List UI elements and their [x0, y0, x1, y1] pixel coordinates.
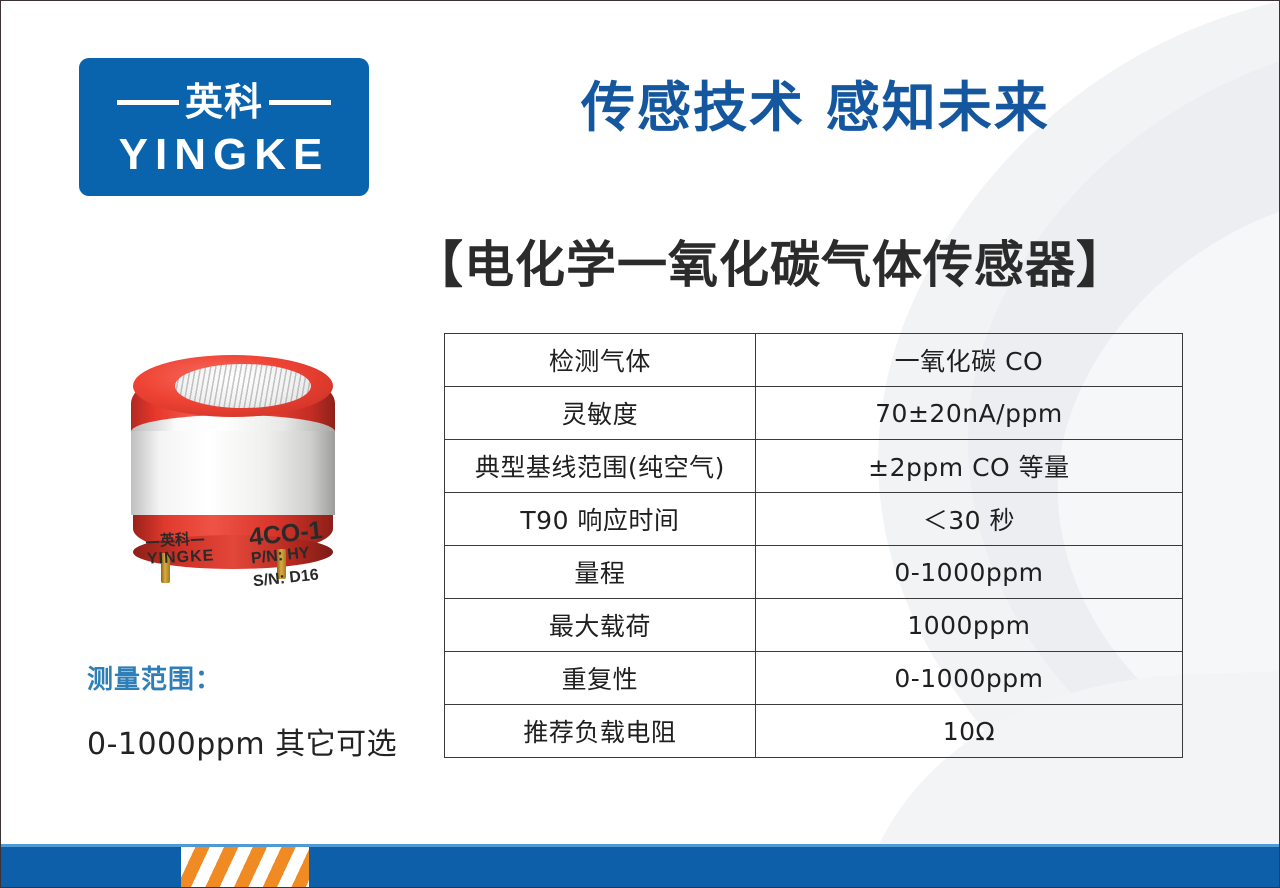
- spec-key: 量程: [445, 546, 756, 599]
- logo-cn-row: 英科: [79, 78, 369, 126]
- sensor-label-band-bottom: [131, 499, 335, 531]
- table-row: 量程 0-1000ppm: [445, 546, 1183, 599]
- measurement-range-value: 0-1000ppm 其它可选: [87, 719, 397, 763]
- brand-logo: 英科 YINGKE: [79, 58, 369, 196]
- spec-key: 灵敏度: [445, 387, 756, 440]
- spec-value: 70±20nA/ppm: [755, 387, 1182, 440]
- measurement-range-label: 测量范围：: [87, 659, 222, 696]
- table-row: T90 响应时间 ＜30 秒: [445, 493, 1183, 546]
- table-row: 推荐负载电阻 10Ω: [445, 705, 1183, 758]
- spec-value: ＜30 秒: [755, 493, 1182, 546]
- logo-cn-text: 英科: [185, 83, 263, 121]
- spec-key: 最大载荷: [445, 599, 756, 652]
- spec-key: 检测气体: [445, 334, 756, 387]
- sensor-mesh-filter-icon: [175, 364, 311, 408]
- spec-value: 1000ppm: [755, 599, 1182, 652]
- sensor-label-en: YINGKE: [147, 547, 215, 568]
- logo-rule-right-icon: [269, 100, 331, 105]
- spec-key: T90 响应时间: [445, 493, 756, 546]
- sensor-serial-number-text: S/N: D16: [252, 565, 337, 592]
- spec-key: 推荐负载电阻: [445, 705, 756, 758]
- table-row: 重复性 0-1000ppm: [445, 652, 1183, 705]
- spec-value: 0-1000ppm: [755, 652, 1182, 705]
- spec-value: 0-1000ppm: [755, 546, 1182, 599]
- spec-value: 10Ω: [755, 705, 1182, 758]
- table-row: 最大载荷 1000ppm: [445, 599, 1183, 652]
- table-row: 典型基线范围(纯空气) ±2ppm CO 等量: [445, 440, 1183, 493]
- logo-rule-left-icon: [117, 100, 179, 105]
- table-row: 检测气体 一氧化碳 CO: [445, 334, 1183, 387]
- brand-tagline: 传感技术 感知未来: [581, 63, 1050, 142]
- spec-value: 一氧化碳 CO: [755, 334, 1182, 387]
- product-datasheet-page: 英科 YINGKE 传感技术 感知未来 【电化学一氧化碳气体传感器】 —英科— …: [0, 0, 1280, 888]
- logo-en-text: YINGKE: [79, 132, 369, 178]
- spec-value: ±2ppm CO 等量: [755, 440, 1182, 493]
- specification-table-body: 检测气体 一氧化碳 CO 灵敏度 70±20nA/ppm 典型基线范围(纯空气)…: [445, 334, 1183, 758]
- page-title: 【电化学一氧化碳气体传感器】: [413, 225, 1127, 297]
- sensor-top-rim: [133, 355, 333, 417]
- spec-key: 典型基线范围(纯空气): [445, 440, 756, 493]
- spec-key: 重复性: [445, 652, 756, 705]
- footer-bar: [1, 844, 1279, 887]
- table-row: 灵敏度 70±20nA/ppm: [445, 387, 1183, 440]
- footer-stripes-icon: [181, 847, 309, 887]
- specification-table: 检测气体 一氧化碳 CO 灵敏度 70±20nA/ppm 典型基线范围(纯空气)…: [444, 333, 1183, 758]
- sensor-product-image: —英科— YINGKE 4CO-1 P/N: HY S/N: D16: [123, 353, 343, 603]
